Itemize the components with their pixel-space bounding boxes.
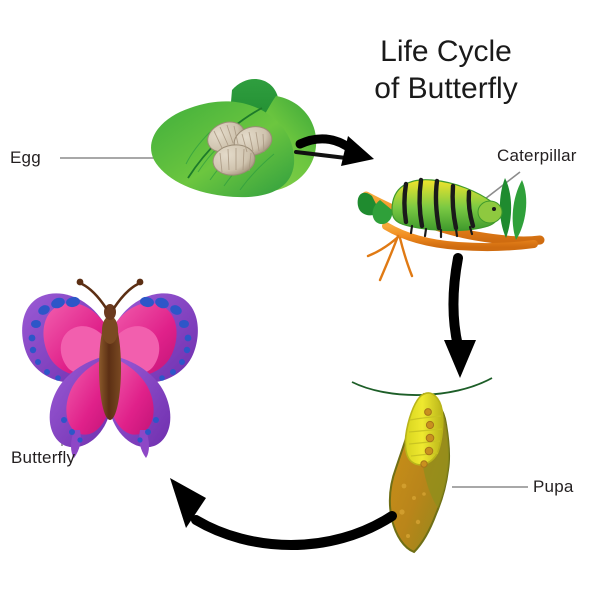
pupa-dot-3	[426, 434, 434, 442]
branch-twigs	[368, 236, 412, 280]
arrow-shaft	[196, 516, 392, 545]
pupa-dot-5	[421, 461, 427, 467]
life-cycle-poster: Life Cycle of Butterfly	[0, 0, 600, 600]
antenna-club-right	[137, 279, 144, 286]
arrow-caterpillar-to-pupa	[444, 258, 476, 378]
pupa-dot-2	[426, 421, 433, 428]
label-egg: Egg	[10, 149, 41, 166]
pupa-dot-1	[425, 409, 432, 416]
stage-butterfly	[22, 279, 198, 458]
caterpillar-head	[478, 201, 502, 223]
caterpillar-eye	[492, 207, 496, 211]
stage-caterpillar	[358, 178, 540, 280]
arrow-head	[444, 340, 476, 378]
label-pupa: Pupa	[533, 478, 574, 495]
label-caterpillar: Caterpillar	[497, 147, 577, 164]
branch-leaf-right-2	[513, 180, 527, 240]
butterfly-thorax	[102, 316, 118, 344]
antenna-club-left	[77, 279, 84, 286]
arrow-shaft	[454, 258, 459, 346]
caterpillar-body	[392, 180, 502, 237]
label-butterfly: Butterfly	[11, 449, 75, 466]
arrow-pupa-to-butterfly	[170, 478, 392, 545]
pupa-hanging-stem	[352, 378, 492, 395]
life-cycle-illustration	[0, 0, 600, 600]
pupa-dot-4	[425, 447, 433, 455]
